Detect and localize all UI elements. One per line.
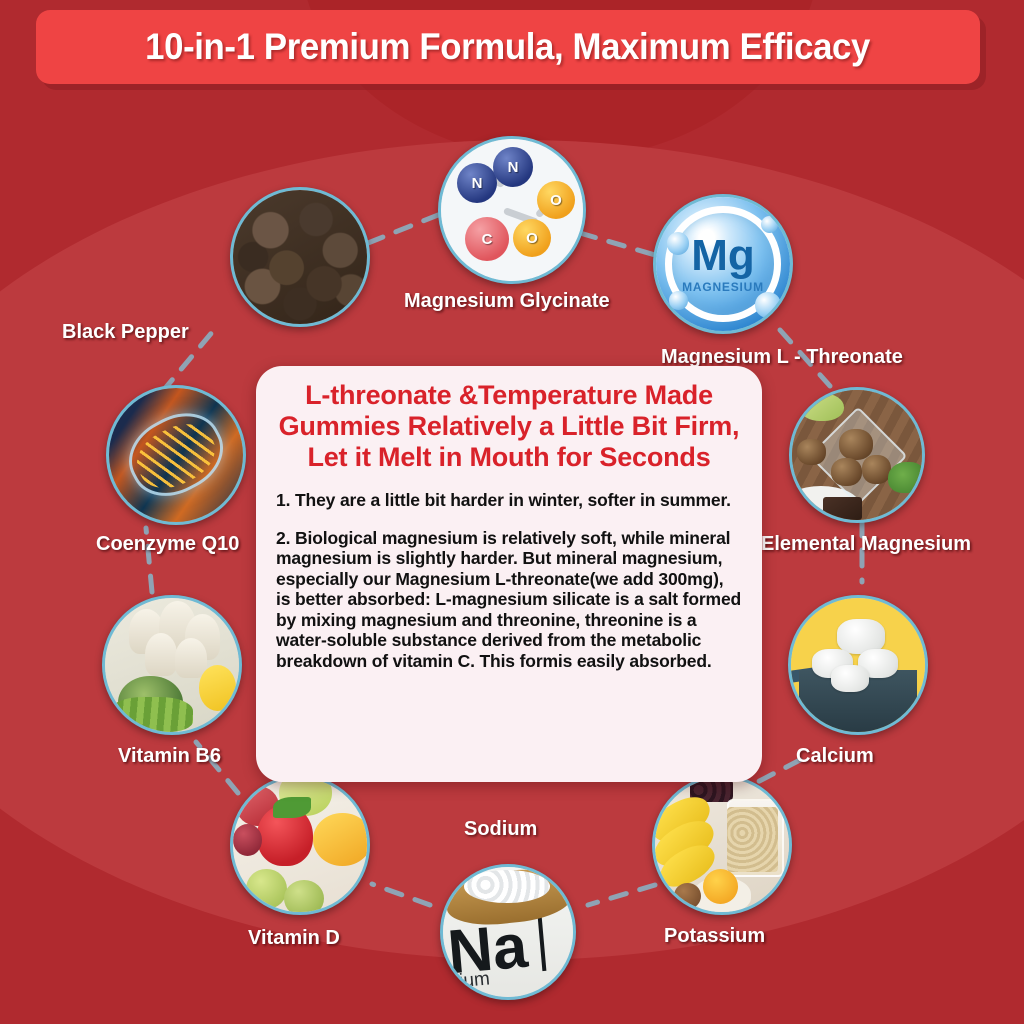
calcium-bubble[interactable] [788,595,928,735]
sodium-label: Sodium [464,818,537,841]
fruit-bowl-icon [233,778,367,912]
infographic-canvas: 10-in-1 Premium Formula, Maximum Efficac… [0,0,1024,1024]
info-card: L-threonate &Temperature Made Gummies Re… [256,366,762,782]
mg-sphere-icon: Mg MAGNESIUM [656,197,790,331]
calcium-tablets-icon [791,598,925,732]
magnesium-l-threonate-bubble[interactable]: Mg MAGNESIUM [653,194,793,334]
sodium-element-name: rium [453,968,492,993]
vitamin-d-bubble[interactable] [230,775,370,915]
vitamin-d-label: Vitamin D [248,927,340,950]
potassium-bubble[interactable] [652,775,792,915]
elemental-magnesium-bubble[interactable] [789,387,925,523]
figs-photo-icon [792,390,922,520]
magnesium-glycinate-bubble[interactable]: N N C O O [438,136,586,284]
atom-carbon: C [465,217,509,261]
mushrooms-icon [105,598,239,732]
vitamin-b6-bubble[interactable] [102,595,242,735]
coenzyme-q10-bubble[interactable] [106,385,246,525]
info-card-heading: L-threonate &Temperature Made Gummies Re… [276,380,742,472]
mitochondria-icon [109,388,243,522]
atom-nitrogen-1: N [457,163,497,203]
atom-oxygen-1: O [537,181,575,219]
info-paragraph-2: 2. Biological magnesium is relatively so… [276,528,742,671]
black-pepper-label: Black Pepper [62,321,189,344]
atom-nitrogen-2: N [493,147,533,187]
sodium-bubble[interactable]: Na rium [440,864,576,1000]
calcium-label: Calcium [796,745,874,768]
info-paragraph-1: 1. They are a little bit harder in winte… [276,490,742,510]
elemental-magnesium-label: Elemental Magnesium [761,533,971,556]
vitamin-b6-label: Vitamin B6 [118,745,221,768]
molecule-icon: N N C O O [441,139,583,281]
black-pepper-bubble[interactable] [230,187,370,327]
info-card-body: 1. They are a little bit harder in winte… [276,490,742,671]
potassium-label: Potassium [664,925,765,948]
coenzyme-q10-label: Coenzyme Q10 [96,533,239,556]
header-banner: 10-in-1 Premium Formula, Maximum Efficac… [36,10,980,84]
atom-oxygen-2: O [513,219,551,257]
magnesium-glycinate-label: Magnesium Glycinate [404,290,610,313]
peppercorns-icon [233,190,367,324]
banner-title: 10-in-1 Premium Formula, Maximum Efficac… [146,26,871,68]
mg-name: MAGNESIUM [682,280,764,294]
sodium-periodic-icon: Na rium [443,867,573,997]
mg-symbol: Mg [691,234,755,278]
potassium-foods-icon [655,778,789,912]
